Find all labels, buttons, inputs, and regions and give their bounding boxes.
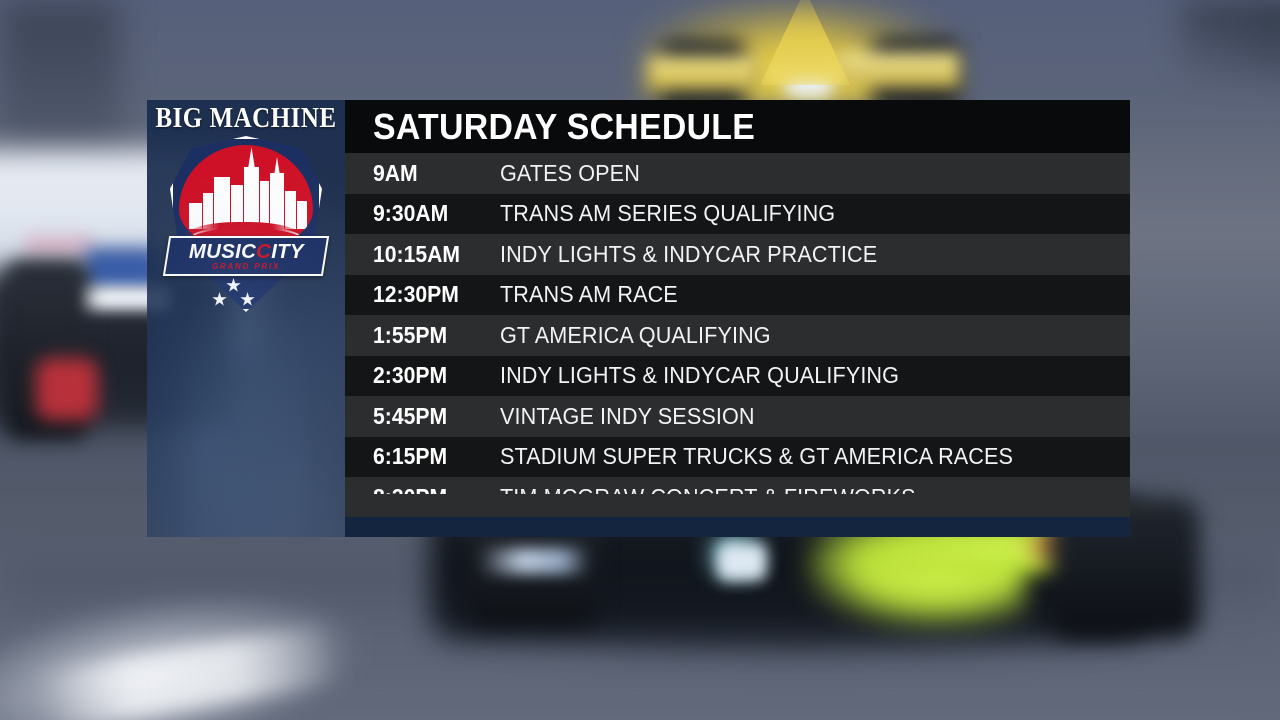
music-city-banner: MUSICCITY GRAND PRIX (163, 236, 329, 276)
city-word: ITY (271, 241, 304, 263)
schedule-row: 1:55PMGT AMERICA QUALIFYING (345, 315, 1130, 356)
schedule-panel: SATURDAY SCHEDULE 9AMGATES OPEN9:30AMTRA… (345, 100, 1130, 537)
schedule-row: 9:30AMTRANS AM SERIES QUALIFYING (345, 194, 1130, 235)
background-top-right-shadow (1180, 0, 1280, 80)
big-machine-wordmark: BIG MACHINE (153, 103, 339, 134)
schedule-title: SATURDAY SCHEDULE (373, 106, 755, 148)
schedule-row-event: GATES OPEN (500, 160, 640, 187)
white-car-livery (24, 236, 94, 256)
schedule-row: 12:30PMTRANS AM RACE (345, 275, 1130, 316)
schedule-row-time: 12:30PM (373, 281, 490, 308)
skyline-building-3 (214, 177, 230, 229)
music-city-wordmark: MUSICCITY (189, 242, 304, 262)
broadcast-graphic: BIG MACHINE (0, 0, 1280, 720)
schedule-row-event: INDY LIGHTS & INDYCAR PRACTICE (500, 241, 877, 268)
schedule-row-event: STADIUM SUPER TRUCKS & GT AMERICA RACES (500, 443, 1013, 470)
schedule-row: 10:15AMINDY LIGHTS & INDYCAR PRACTICE (345, 234, 1130, 275)
skyline-building-9 (297, 201, 307, 229)
schedule-row-event: TRANS AM RACE (500, 281, 678, 308)
grand-prix-wordmark: GRAND PRIX (212, 263, 280, 271)
schedule-footer-spacer (345, 494, 1130, 517)
yellow-car-wing-left (648, 56, 758, 90)
white-car-red-accent (36, 358, 98, 420)
schedule-row-time: 1:55PM (373, 322, 490, 349)
schedule-row-event: VINTAGE INDY SESSION (500, 403, 755, 430)
schedule-row-list: 9AMGATES OPEN9:30AMTRANS AM SERIES QUALI… (345, 153, 1130, 518)
shield-emblem: MUSICCITY GRAND PRIX (170, 136, 322, 312)
schedule-row-time: 9AM (373, 160, 490, 187)
schedule-row-time: 5:45PM (373, 403, 490, 430)
star-top (226, 278, 241, 293)
music-city-grand-prix-logo: BIG MACHINE (153, 105, 339, 315)
schedule-row-time: 2:30PM (373, 362, 490, 389)
star-left (212, 292, 227, 307)
schedule-accent-bar (345, 517, 1130, 537)
schedule-row: 5:45PMVINTAGE INDY SESSION (345, 396, 1130, 437)
schedule-row-time: 6:15PM (373, 443, 490, 470)
music-word: MUSIC (189, 241, 256, 263)
schedule-row-time: 10:15AM (373, 241, 490, 268)
schedule-row-event: INDY LIGHTS & INDYCAR QUALIFYING (500, 362, 899, 389)
logo-panel: BIG MACHINE (147, 100, 345, 537)
schedule-row: 9AMGATES OPEN (345, 153, 1130, 194)
tennessee-stars (170, 278, 322, 312)
schedule-row: 6:15PMSTADIUM SUPER TRUCKS & GT AMERICA … (345, 437, 1130, 478)
schedule-row-event: GT AMERICA QUALIFYING (500, 322, 771, 349)
schedule-row: 2:30PMINDY LIGHTS & INDYCAR QUALIFYING (345, 356, 1130, 397)
star-right (240, 292, 255, 307)
skyline-building-8 (285, 191, 296, 229)
foreground-car-white-accent (718, 544, 766, 580)
schedule-row-time: 9:30AM (373, 200, 490, 227)
yellow-car-wing-right (840, 52, 960, 88)
schedule-header: SATURDAY SCHEDULE (345, 100, 1130, 153)
schedule-row-event: TRANS AM SERIES QUALIFYING (500, 200, 835, 227)
city-c-letter: C (256, 241, 271, 263)
foreground-car-rim (478, 548, 590, 574)
